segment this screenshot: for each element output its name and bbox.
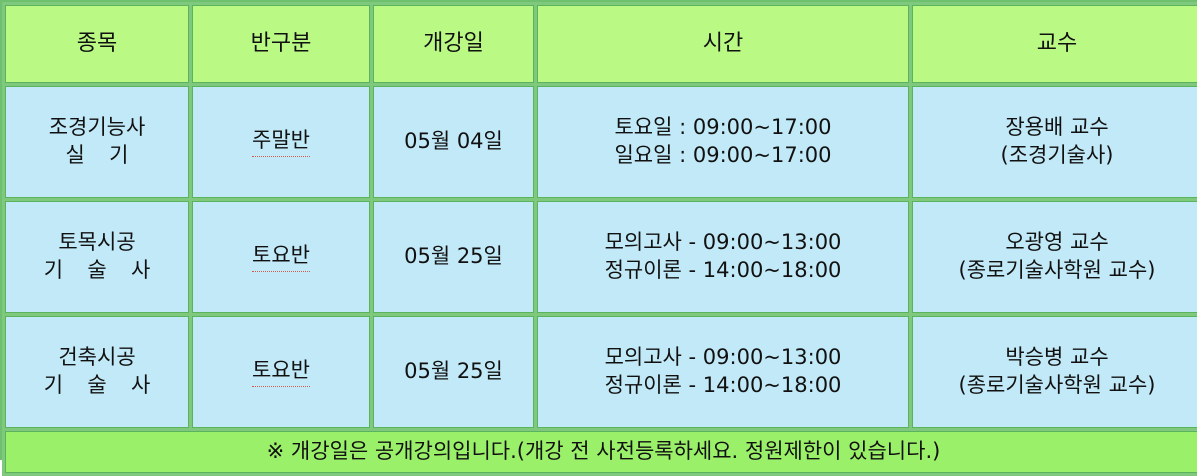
subject-main-text: 건축시공 — [10, 344, 184, 372]
cell-start-date: 05월 04일 — [373, 86, 534, 198]
cell-time: 토요일 : 09:00~17:00 일요일 : 09:00~17:00 — [537, 86, 909, 198]
cell-professor: 박승병 교수 (종로기술사학원 교수) — [912, 316, 1197, 428]
subject-sub-text: 기 술 사 — [10, 257, 184, 285]
professor-affiliation: (조경기술사) — [917, 142, 1197, 170]
column-header-professor: 교수 — [912, 5, 1197, 83]
cell-professor: 오광영 교수 (종로기술사학원 교수) — [912, 201, 1197, 313]
time-line-2: 일요일 : 09:00~17:00 — [614, 142, 831, 170]
subject-main-text: 토목시공 — [10, 229, 184, 257]
professor-affiliation: (종로기술사학원 교수) — [917, 372, 1197, 400]
class-type-text: 주말반 — [252, 127, 310, 157]
professor-name: 장용배 교수 — [917, 114, 1197, 142]
professor-name: 박승병 교수 — [917, 344, 1197, 372]
time-line-1: 모의고사 - 09:00~13:00 — [605, 344, 842, 372]
cell-class-type: 토요반 — [192, 201, 370, 313]
time-block: 토요일 : 09:00~17:00 일요일 : 09:00~17:00 — [614, 114, 831, 169]
time-line-2: 정규이론 - 14:00~18:00 — [605, 257, 842, 285]
column-header-subject: 종목 — [5, 5, 189, 83]
subject-sub-text: 기 술 사 — [10, 372, 184, 400]
table-row: 건축시공 기 술 사 토요반 05월 25일 모의고사 - 09:00~13:0… — [5, 316, 1197, 428]
cell-start-date: 05월 25일 — [373, 201, 534, 313]
column-header-class-type: 반구분 — [192, 5, 370, 83]
class-type-text: 토요반 — [252, 357, 310, 387]
time-line-1: 모의고사 - 09:00~13:00 — [605, 229, 842, 257]
cell-professor: 장용배 교수 (조경기술사) — [912, 86, 1197, 198]
table-note-row: ※ 개강일은 공개강의입니다.(개강 전 사전등록하세요. 정원제한이 있습니다… — [5, 431, 1197, 473]
class-type-text: 토요반 — [252, 242, 310, 272]
course-schedule-table: 종목 반구분 개강일 시간 교수 조경기능사 실 기 주말반 05월 04일 — [2, 2, 1197, 476]
cell-class-type: 토요반 — [192, 316, 370, 428]
schedule-container: 종목 반구분 개강일 시간 교수 조경기능사 실 기 주말반 05월 04일 — [0, 0, 1197, 460]
cell-subject: 건축시공 기 술 사 — [5, 316, 189, 428]
time-block: 모의고사 - 09:00~13:00 정규이론 - 14:00~18:00 — [605, 344, 842, 399]
table-header-row: 종목 반구분 개강일 시간 교수 — [5, 5, 1197, 83]
table-row: 토목시공 기 술 사 토요반 05월 25일 모의고사 - 09:00~13:0… — [5, 201, 1197, 313]
cell-time: 모의고사 - 09:00~13:00 정규이론 - 14:00~18:00 — [537, 316, 909, 428]
cell-class-type: 주말반 — [192, 86, 370, 198]
column-header-start-date: 개강일 — [373, 5, 534, 83]
subject-main-text: 조경기능사 — [10, 114, 184, 142]
professor-affiliation: (종로기술사학원 교수) — [917, 257, 1197, 285]
time-line-2: 정규이론 - 14:00~18:00 — [605, 372, 842, 400]
column-header-time: 시간 — [537, 5, 909, 83]
professor-name: 오광영 교수 — [917, 229, 1197, 257]
time-block: 모의고사 - 09:00~13:00 정규이론 - 14:00~18:00 — [605, 229, 842, 284]
table-row: 조경기능사 실 기 주말반 05월 04일 토요일 : 09:00~17:00 … — [5, 86, 1197, 198]
time-line-1: 토요일 : 09:00~17:00 — [614, 114, 831, 142]
cell-subject: 토목시공 기 술 사 — [5, 201, 189, 313]
cell-start-date: 05월 25일 — [373, 316, 534, 428]
schedule-note: ※ 개강일은 공개강의입니다.(개강 전 사전등록하세요. 정원제한이 있습니다… — [5, 431, 1197, 473]
subject-sub-text: 실 기 — [10, 142, 184, 170]
cell-time: 모의고사 - 09:00~13:00 정규이론 - 14:00~18:00 — [537, 201, 909, 313]
cell-subject: 조경기능사 실 기 — [5, 86, 189, 198]
